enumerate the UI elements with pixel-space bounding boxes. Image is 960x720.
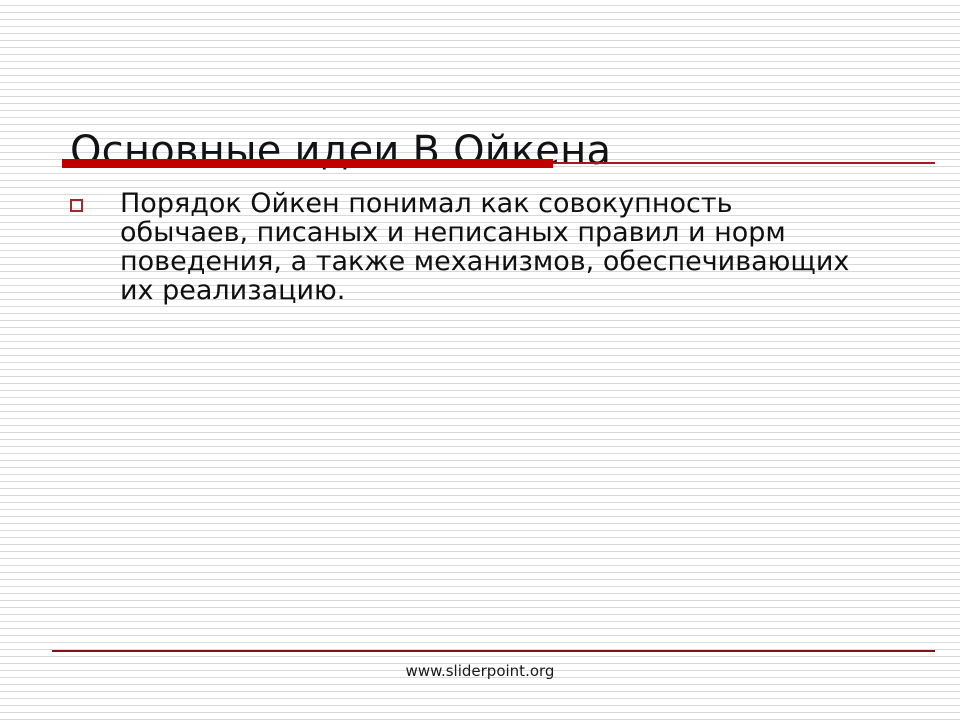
list-item: Порядок Ойкен понимал как совокупность о… (62, 189, 862, 305)
title-accent-bar (62, 159, 553, 168)
hollow-square-bullet-icon (70, 199, 83, 212)
footer-url: www.sliderpoint.org (0, 661, 960, 681)
list-item-label: Порядок Ойкен понимал как совокупность о… (120, 189, 862, 305)
body-content: Порядок Ойкен понимал как совокупность о… (62, 189, 862, 305)
title-accent-rule (553, 162, 935, 164)
footer-divider (52, 650, 935, 652)
slide-canvas: Основные идеи В.Ойкена Порядок Ойкен пон… (0, 0, 960, 720)
